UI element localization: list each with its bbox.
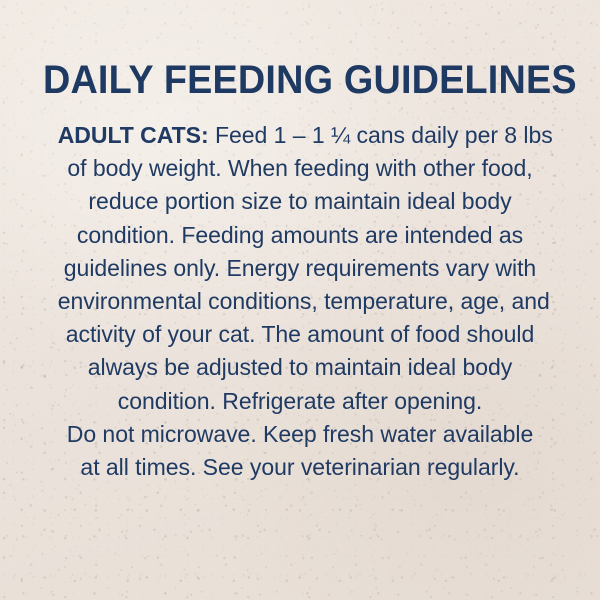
instruction-line-4: condition. Feeding amounts are intended … [58,219,543,252]
instruction-line-7: activity of your cat. The amount of food… [58,318,543,351]
label-content: DAILY FEEDING GUIDELINES ADULT CATS: Fee… [0,0,600,600]
feeding-instructions-text: ADULT CATS: Feed 1 – 1 ¼ cans daily per … [58,119,543,484]
instruction-line-5: guidelines only. Energy requirements var… [58,252,543,285]
instruction-line-1: ADULT CATS: Feed 1 – 1 ¼ cans daily per … [58,119,543,152]
instruction-line-10: Do not microwave. Keep fresh water avail… [58,418,543,451]
instruction-line-1-text: Feed 1 – 1 ¼ cans daily per 8 lbs [215,122,553,148]
instruction-line-6: environmental conditions, temperature, a… [58,285,543,318]
feeding-guidelines-label: DAILY FEEDING GUIDELINES ADULT CATS: Fee… [0,0,600,600]
adult-cats-lead-in-label: ADULT CATS: [58,122,209,148]
page-title: DAILY FEEDING GUIDELINES [43,58,557,102]
instruction-line-9: condition. Refrigerate after opening. [58,385,543,418]
instruction-line-2: of body weight. When feeding with other … [58,152,543,185]
instruction-line-11: at all times. See your veterinarian regu… [58,451,543,484]
instruction-line-8: always be adjusted to maintain ideal bod… [58,351,543,384]
instruction-line-3: reduce portion size to maintain ideal bo… [58,185,543,218]
